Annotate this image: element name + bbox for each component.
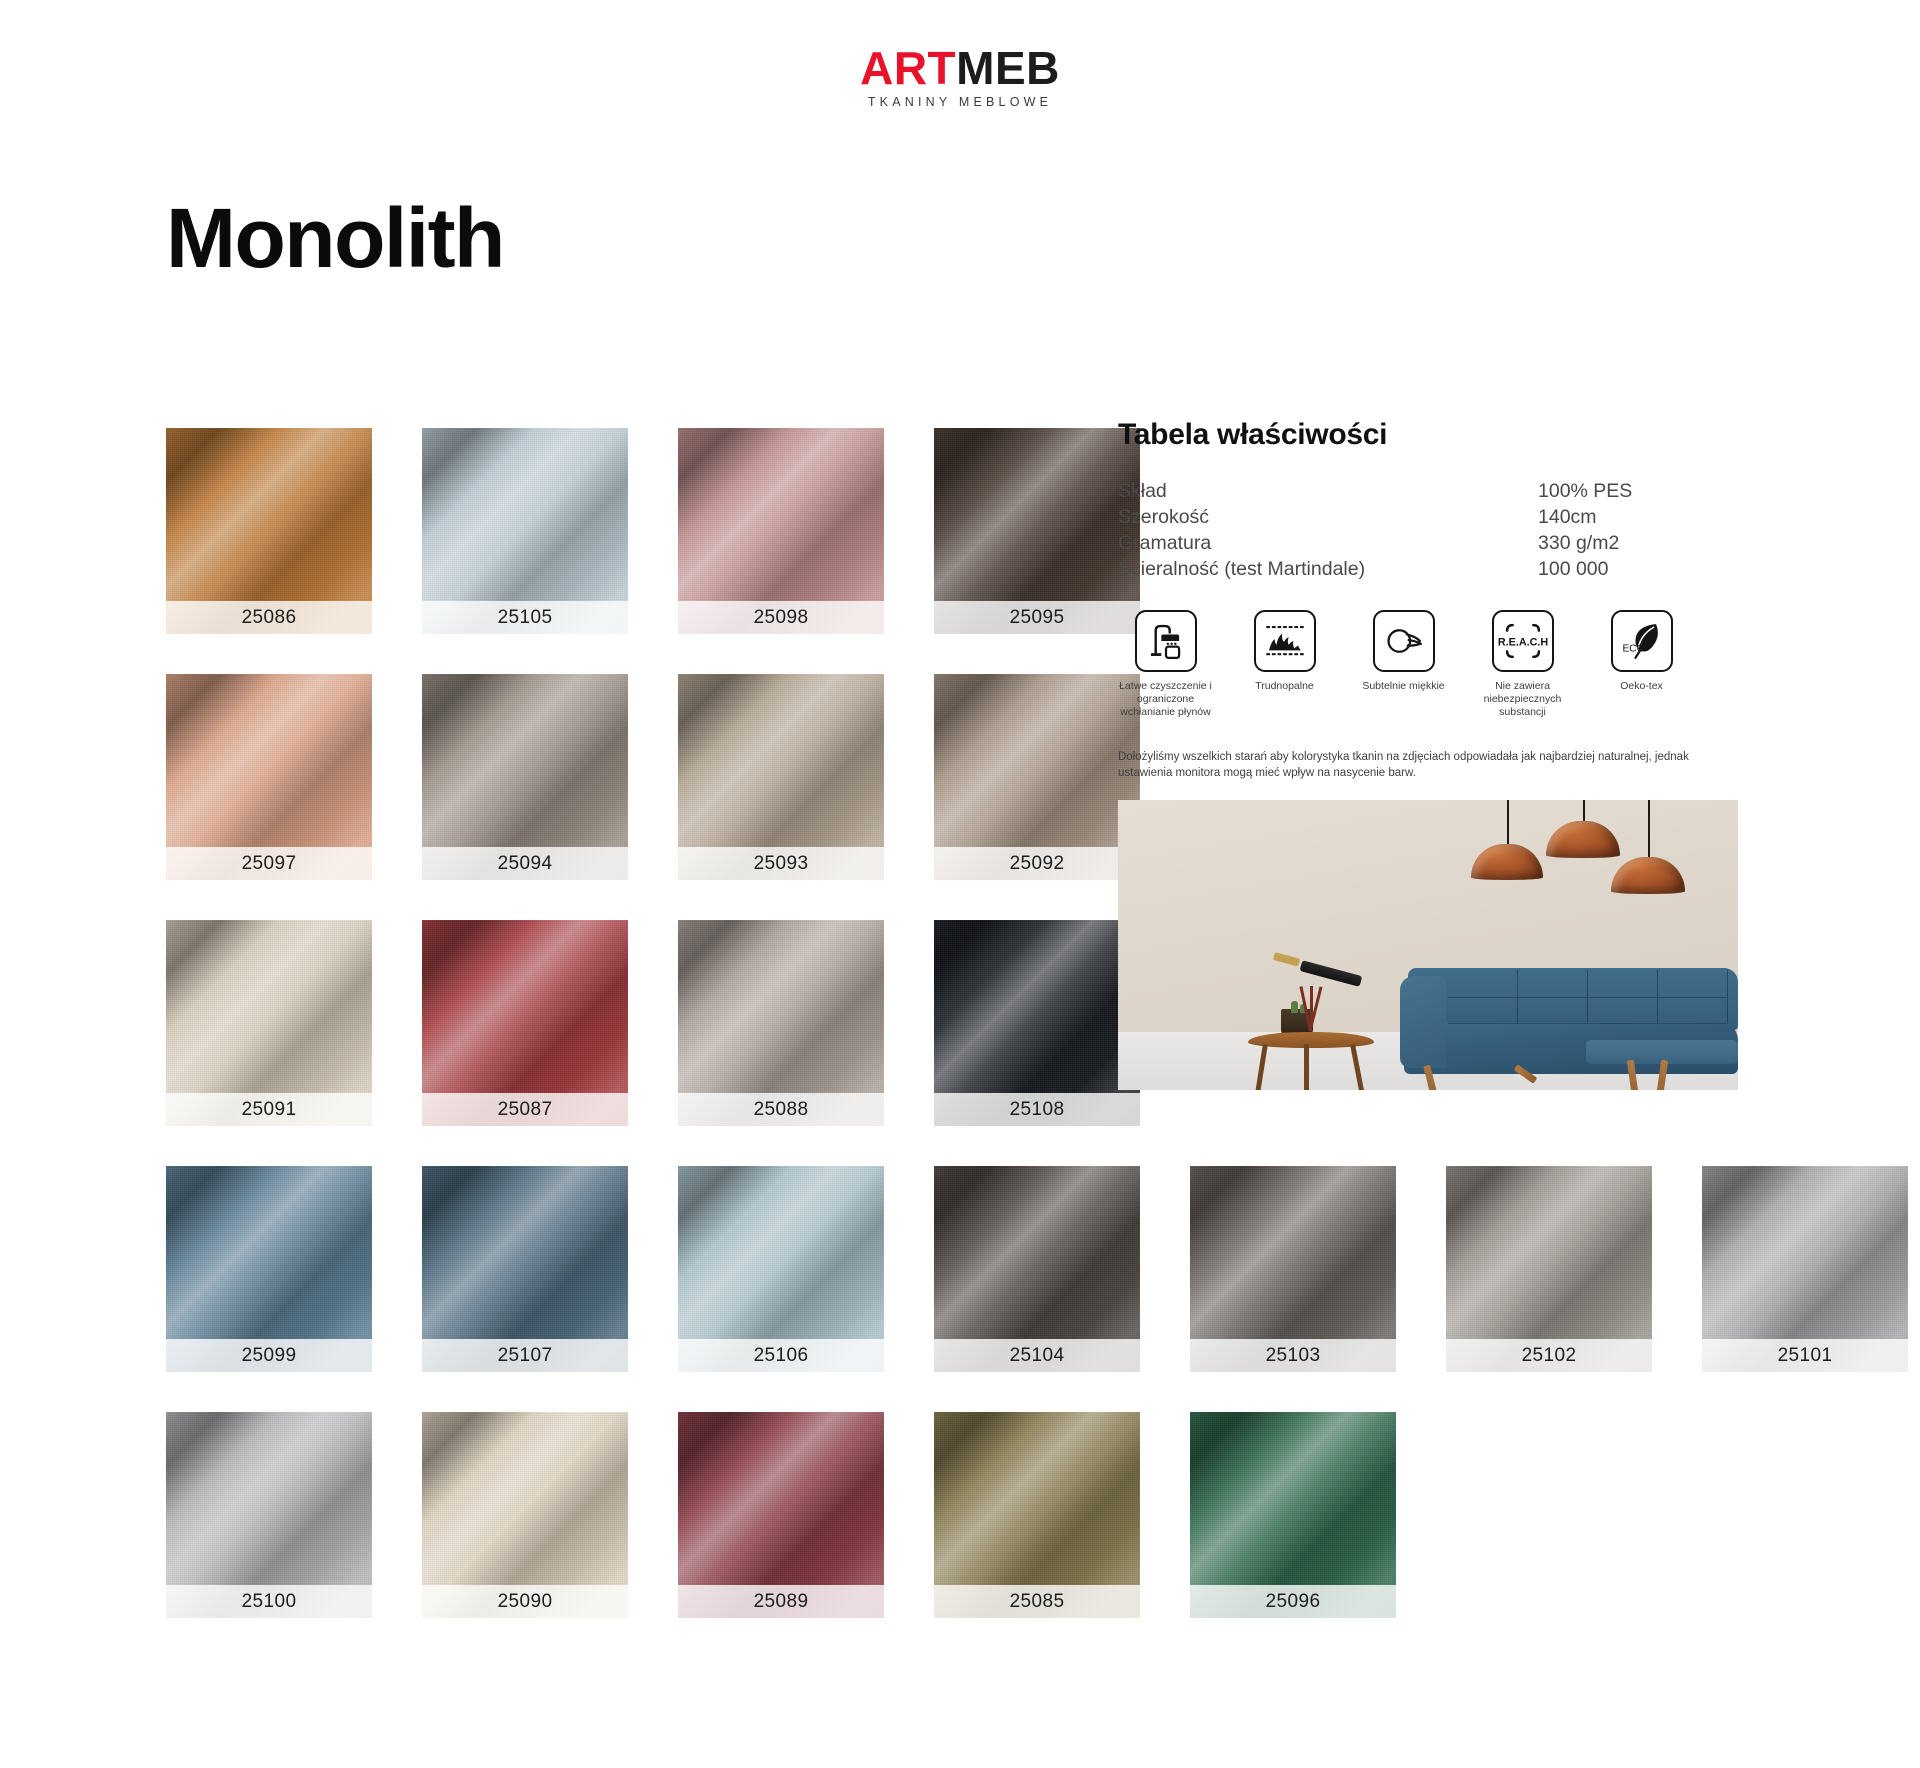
- fabric-swatch[interactable]: 25088: [678, 920, 884, 1126]
- fabric-swatch[interactable]: 25098: [678, 428, 884, 634]
- property-row: Skład100% PES: [1118, 478, 1738, 504]
- svg-text:ECO: ECO: [1622, 643, 1644, 654]
- soft-touch-icon: [1373, 610, 1435, 672]
- properties-panel: Tabela właściwości Skład100% PESSzerokoś…: [1118, 418, 1738, 815]
- fabric-swatch[interactable]: 25101: [1702, 1166, 1908, 1372]
- feature-caption: Subtelnie miękkie: [1356, 680, 1451, 693]
- catalog-page: ARTMEB TKANINY MEBLOWE Monolith 25086251…: [0, 0, 1920, 1768]
- swatch-code: 25094: [498, 853, 553, 875]
- swatch-code-band: 25093: [678, 847, 884, 880]
- property-value: 330 g/m2: [1538, 530, 1738, 556]
- swatch-code-band: 25106: [678, 1339, 884, 1372]
- swatch-code: 25088: [754, 1099, 809, 1121]
- sofa-armrest: [1400, 976, 1446, 1068]
- sofa-tufting-5: [1448, 998, 1518, 1024]
- feature-easy-clean: Łatwe czyszczenie i ograniczone wchłania…: [1118, 610, 1213, 719]
- fabric-swatch[interactable]: 25102: [1446, 1166, 1652, 1372]
- svg-text:R.E.A.C.H: R.E.A.C.H: [1497, 637, 1547, 649]
- feature-caption: Oeko-tex: [1594, 680, 1689, 693]
- swatch-code: 25102: [1522, 1345, 1577, 1367]
- sofa-tufting-3: [1588, 970, 1658, 998]
- page-title: Monolith: [166, 196, 504, 280]
- sofa-tufting-8: [1658, 998, 1728, 1024]
- fabric-swatch[interactable]: 25100: [166, 1412, 372, 1618]
- swatch-row: 25099251072510625104251032510225101: [166, 1166, 1166, 1372]
- swatch-code-band: 25087: [422, 1093, 628, 1126]
- swatch-code-band: 25088: [678, 1093, 884, 1126]
- fabric-swatch[interactable]: 25093: [678, 674, 884, 880]
- property-value: 140cm: [1538, 504, 1738, 530]
- properties-table: Skład100% PESSzerokość140cmGramatura330 …: [1118, 478, 1738, 582]
- property-value: 100 000: [1538, 556, 1738, 582]
- fabric-swatch[interactable]: 25104: [934, 1166, 1140, 1372]
- cactus: [1291, 1001, 1298, 1013]
- sofa-tufting-2: [1518, 970, 1588, 998]
- swatch-code-band: 25108: [934, 1093, 1140, 1126]
- property-row: Ścieralność (test Martindale)100 000: [1118, 556, 1738, 582]
- swatch-code-band: 25085: [934, 1585, 1140, 1618]
- swatch-code-band: 25097: [166, 847, 372, 880]
- swatch-code: 25090: [498, 1591, 553, 1613]
- property-label: Ścieralność (test Martindale): [1118, 556, 1538, 582]
- swatch-row: 25086251052509825095: [166, 428, 1166, 634]
- property-label: Szerokość: [1118, 504, 1538, 530]
- sofa-tufting-1: [1448, 970, 1518, 998]
- swatch-grid: 2508625105250982509525097250942509325092…: [166, 428, 1166, 1658]
- pendant-cord-3: [1648, 800, 1650, 858]
- feature-caption: Nie zawiera niebezpiecznych substancji: [1475, 680, 1570, 719]
- logo-art-text: ART: [860, 42, 956, 94]
- swatch-code: 25087: [498, 1099, 553, 1121]
- swatch-code-band: 25089: [678, 1585, 884, 1618]
- side-table-leg-2: [1304, 1044, 1309, 1090]
- swatch-code: 25100: [242, 1591, 297, 1613]
- feature-caption: Łatwe czyszczenie i ograniczone wchłania…: [1118, 680, 1213, 719]
- swatch-code: 25089: [754, 1591, 809, 1613]
- feature-oeko-tex: ECO Oeko-tex: [1594, 610, 1689, 719]
- swatch-code: 25101: [1778, 1345, 1833, 1367]
- swatch-code-band: 25103: [1190, 1339, 1396, 1372]
- property-value: 100% PES: [1538, 478, 1738, 504]
- swatch-row: 25097250942509325092: [166, 674, 1166, 880]
- fabric-swatch[interactable]: 25090: [422, 1412, 628, 1618]
- swatch-code-band: 25107: [422, 1339, 628, 1372]
- swatch-code-band: 25098: [678, 601, 884, 634]
- swatch-code-band: 25091: [166, 1093, 372, 1126]
- fabric-swatch[interactable]: 25103: [1190, 1166, 1396, 1372]
- fabric-swatch[interactable]: 25107: [422, 1166, 628, 1372]
- properties-heading: Tabela właściwości: [1118, 418, 1738, 452]
- fabric-swatch[interactable]: 25086: [166, 428, 372, 634]
- brand-logo: ARTMEB TKANINY MEBLOWE: [0, 44, 1920, 109]
- swatch-code-band: 25100: [166, 1585, 372, 1618]
- oeko-tex-leaf-icon: ECO: [1611, 610, 1673, 672]
- swatch-code: 25086: [242, 607, 297, 629]
- swatch-code-band: 25095: [934, 601, 1140, 634]
- feature-soft-touch: Subtelnie miękkie: [1356, 610, 1451, 719]
- swatch-code-band: 25086: [166, 601, 372, 634]
- swatch-code-band: 25104: [934, 1339, 1140, 1372]
- fabric-swatch[interactable]: 25094: [422, 674, 628, 880]
- fabric-swatch[interactable]: 25089: [678, 1412, 884, 1618]
- swatch-code-band: 25105: [422, 601, 628, 634]
- sofa-tufting-4: [1658, 970, 1728, 998]
- swatch-code: 25105: [498, 607, 553, 629]
- swatch-code: 25092: [1010, 853, 1065, 875]
- pendant-cord-2: [1583, 800, 1585, 822]
- swatch-code: 25103: [1266, 1345, 1321, 1367]
- swatch-code-band: 25096: [1190, 1585, 1396, 1618]
- swatch-code: 25099: [242, 1345, 297, 1367]
- feature-reach: R.E.A.C.H Nie zawiera niebezpiecznych su…: [1475, 610, 1570, 719]
- swatch-code-band: 25101: [1702, 1339, 1908, 1372]
- fabric-swatch[interactable]: 25095: [934, 428, 1140, 634]
- logo-meb-text: MEB: [956, 42, 1060, 94]
- flame-retardant-icon: [1254, 610, 1316, 672]
- swatch-code: 25096: [1266, 1591, 1321, 1613]
- disclaimer-colors: Dołożyliśmy wszelkich starań aby kolorys…: [1118, 749, 1733, 781]
- telescope-tripod-leg-3: [1310, 986, 1313, 1026]
- swatch-code: 25095: [1010, 607, 1065, 629]
- fabric-swatch[interactable]: 25085: [934, 1412, 1140, 1618]
- fabric-swatch[interactable]: 25092: [934, 674, 1140, 880]
- swatch-code-band: 25094: [422, 847, 628, 880]
- property-row: Gramatura330 g/m2: [1118, 530, 1738, 556]
- interior-room-photo: [1118, 800, 1738, 1090]
- swatch-code: 25106: [754, 1345, 809, 1367]
- property-row: Szerokość140cm: [1118, 504, 1738, 530]
- swatch-code: 25098: [754, 607, 809, 629]
- fabric-swatch[interactable]: 25106: [678, 1166, 884, 1372]
- fabric-swatch[interactable]: 25108: [934, 920, 1140, 1126]
- swatch-code: 25085: [1010, 1591, 1065, 1613]
- fabric-swatch[interactable]: 25091: [166, 920, 372, 1126]
- fabric-swatch[interactable]: 25105: [422, 428, 628, 634]
- swatch-code: 25093: [754, 853, 809, 875]
- fabric-swatch[interactable]: 25097: [166, 674, 372, 880]
- property-label: Skład: [1118, 478, 1538, 504]
- feature-caption: Trudnopalne: [1237, 680, 1332, 693]
- swatch-code-band: 25102: [1446, 1339, 1652, 1372]
- feature-icons-row: Łatwe czyszczenie i ograniczone wchłania…: [1118, 610, 1738, 719]
- fabric-swatch[interactable]: 25087: [422, 920, 628, 1126]
- logo-tagline: TKANINY MEBLOWE: [0, 95, 1920, 109]
- swatch-code-band: 25090: [422, 1585, 628, 1618]
- swatch-code: 25091: [242, 1099, 297, 1121]
- property-label: Gramatura: [1118, 530, 1538, 556]
- sofa-tufting-6: [1518, 998, 1588, 1024]
- logo-wordmark: ARTMEB: [0, 44, 1920, 92]
- feature-flame-retardant: Trudnopalne: [1237, 610, 1332, 719]
- swatch-row: 25091250872508825108: [166, 920, 1166, 1126]
- swatch-code: 25107: [498, 1345, 553, 1367]
- fabric-swatch[interactable]: 25096: [1190, 1412, 1396, 1618]
- swatch-row: 2510025090250892508525096: [166, 1412, 1166, 1618]
- swatch-code: 25097: [242, 853, 297, 875]
- reach-icon: R.E.A.C.H: [1492, 610, 1554, 672]
- swatch-code-band: 25092: [934, 847, 1140, 880]
- swatch-code-band: 25099: [166, 1339, 372, 1372]
- pendant-cord-1: [1507, 800, 1509, 845]
- swatch-code: 25108: [1010, 1099, 1065, 1121]
- easy-clean-icon: [1135, 610, 1197, 672]
- swatch-code: 25104: [1010, 1345, 1065, 1367]
- sofa-tufting-7: [1588, 998, 1658, 1024]
- fabric-swatch[interactable]: 25099: [166, 1166, 372, 1372]
